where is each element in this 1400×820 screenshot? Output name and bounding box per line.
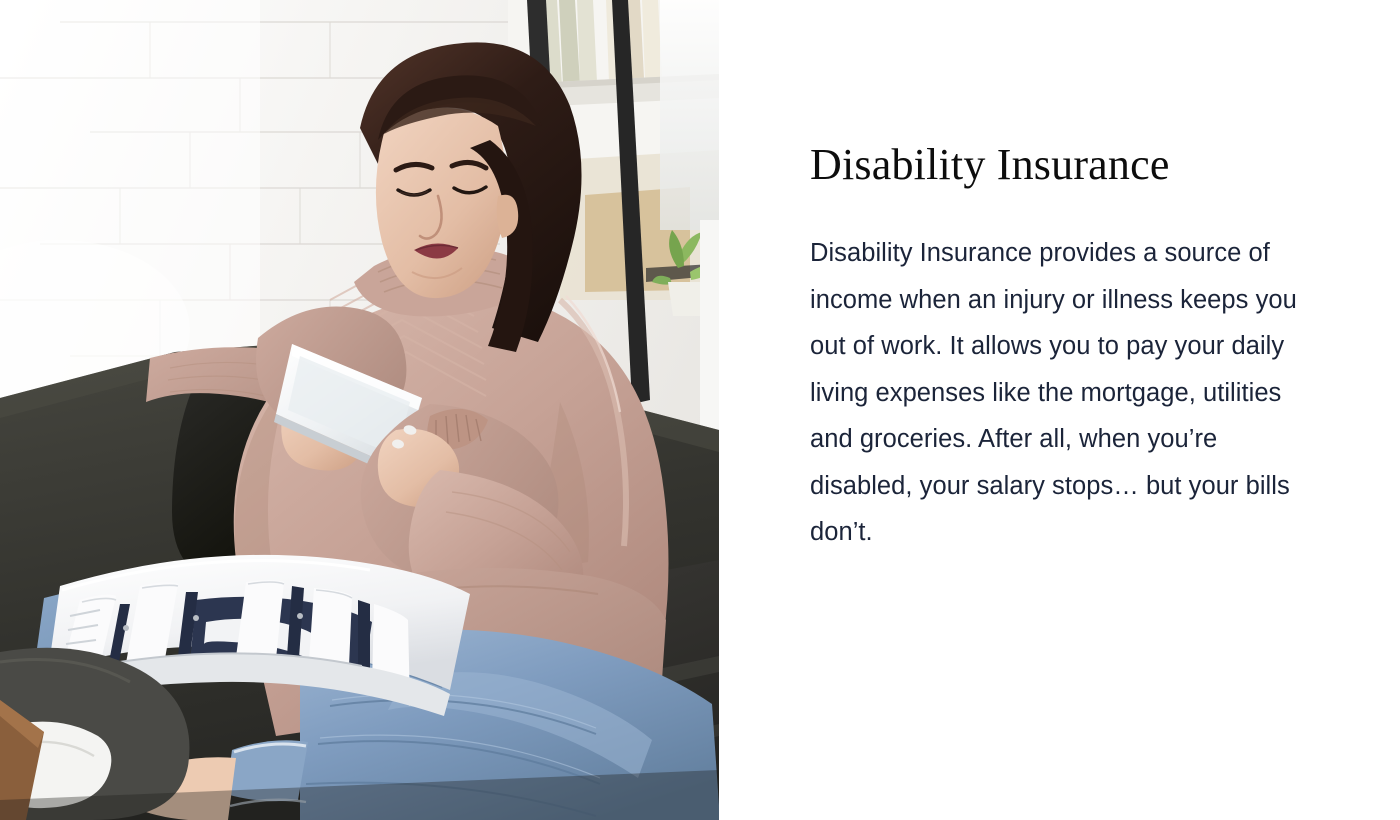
- hero-photo: [0, 0, 719, 820]
- hero-text-panel: Disability Insurance Disability Insuranc…: [719, 0, 1400, 820]
- hero-photo-illustration: [0, 0, 719, 820]
- hero-text-block: Disability Insurance Disability Insuranc…: [810, 138, 1310, 556]
- hero-description: Disability Insurance provides a source o…: [810, 230, 1302, 556]
- disability-insurance-hero-section: Disability Insurance Disability Insuranc…: [0, 0, 1400, 820]
- page-title: Disability Insurance: [810, 138, 1310, 192]
